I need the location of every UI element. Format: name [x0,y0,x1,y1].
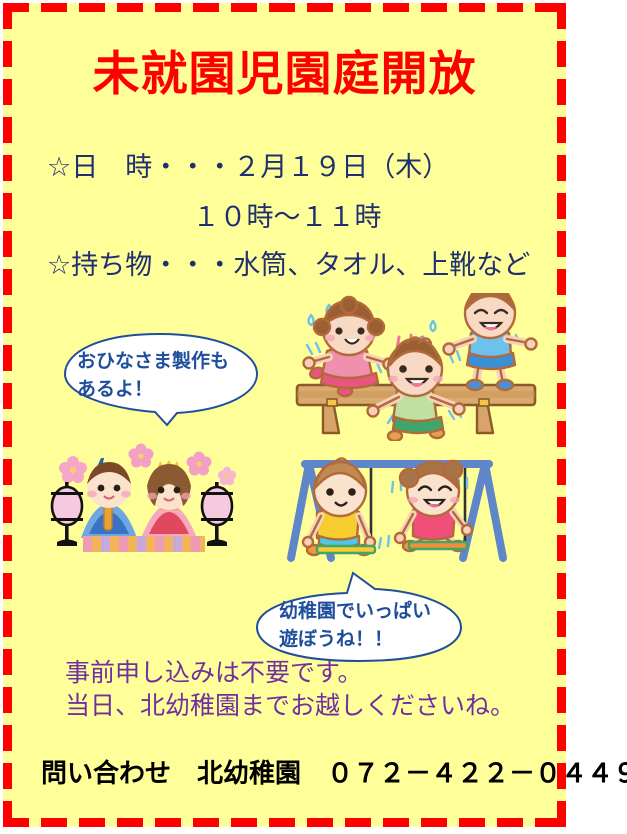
lantern-right [201,482,233,546]
border-dash-left [3,3,12,827]
page-title: 未就園児園庭開放 [3,51,566,98]
contact-info: 問い合わせ 北幼稚園 ０７２－４２２－０４４９ [41,753,627,790]
border-dash-bottom [3,818,566,827]
hina-platform [83,536,205,552]
hina-empress [141,460,197,538]
detail-line-time: １０時～１１時 [47,198,527,237]
play-bubble-text: 幼稚園でいっぱい 遊ぼうね！！ [279,598,431,653]
border-dash-right [557,3,566,827]
hinamatsuri-bubble-text: おひなさま製作も あるよ！ [77,348,229,403]
detail-line-datetime: ☆日 時・・・２月１９日（木） [47,148,449,187]
plum-blossom-group [59,444,236,486]
poster-body: 未就園児園庭開放 ☆日 時・・・２月１９日（木） １０時～１１時 ☆持ち物・・・… [3,3,566,827]
closing-line-2: 当日、北幼稚園までお越しくださいね。 [65,689,515,723]
balance-beam-children-illustration [289,293,547,441]
hina-emperor [81,458,137,538]
lantern-left [51,482,83,546]
detail-line-bring: ☆持ち物・・・水筒、タオル、上靴など [47,246,530,285]
hina-dolls-illustration [45,438,273,558]
swing-children-illustration [283,446,511,576]
border-dash-top [3,3,566,12]
